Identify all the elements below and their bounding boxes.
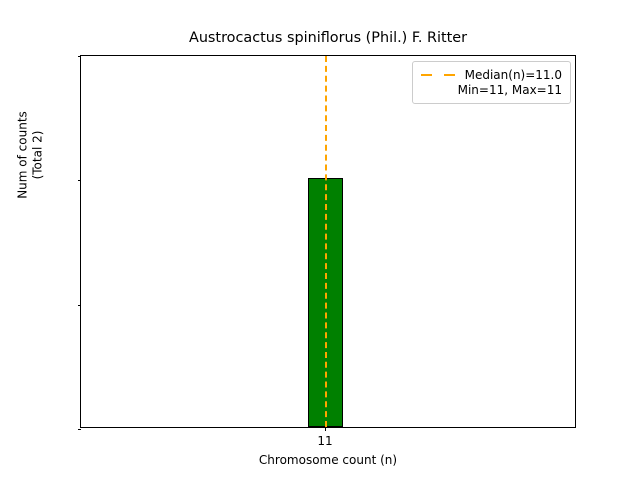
- ytick-mark-1: [78, 305, 82, 306]
- ytick-mark-0: [78, 429, 82, 430]
- xtick-mark-11: [325, 427, 326, 431]
- dashed-line-icon: [420, 69, 456, 81]
- y-axis-label-line1: Num of counts: [16, 0, 31, 342]
- median-line: [325, 56, 327, 427]
- chart-figure: Austrocactus spiniflorus (Phil.) F. Ritt…: [0, 0, 640, 480]
- legend-entry-median: Median(n)=11.0: [420, 68, 562, 82]
- chart-title: Austrocactus spiniflorus (Phil.) F. Ritt…: [80, 30, 576, 47]
- legend-label-minmax: Min=11, Max=11: [420, 83, 562, 97]
- ytick-mark-3: [78, 56, 82, 57]
- x-axis-label: Chromosome count (n): [80, 453, 576, 467]
- legend: Median(n)=11.0 Min=11, Max=11: [412, 61, 571, 104]
- y-axis-label-line2: (Total 2): [31, 0, 46, 342]
- y-axis-label: Num of counts (Total 2): [16, 0, 46, 342]
- legend-label-median: Median(n)=11.0: [465, 68, 562, 82]
- xtick-label-11: 11: [295, 434, 355, 448]
- plot-area: 0 1 2 3 11 Median(n)=11.0 Min=11, Max=11: [80, 55, 576, 428]
- plot-inner: [81, 56, 575, 427]
- ytick-mark-2: [78, 180, 82, 181]
